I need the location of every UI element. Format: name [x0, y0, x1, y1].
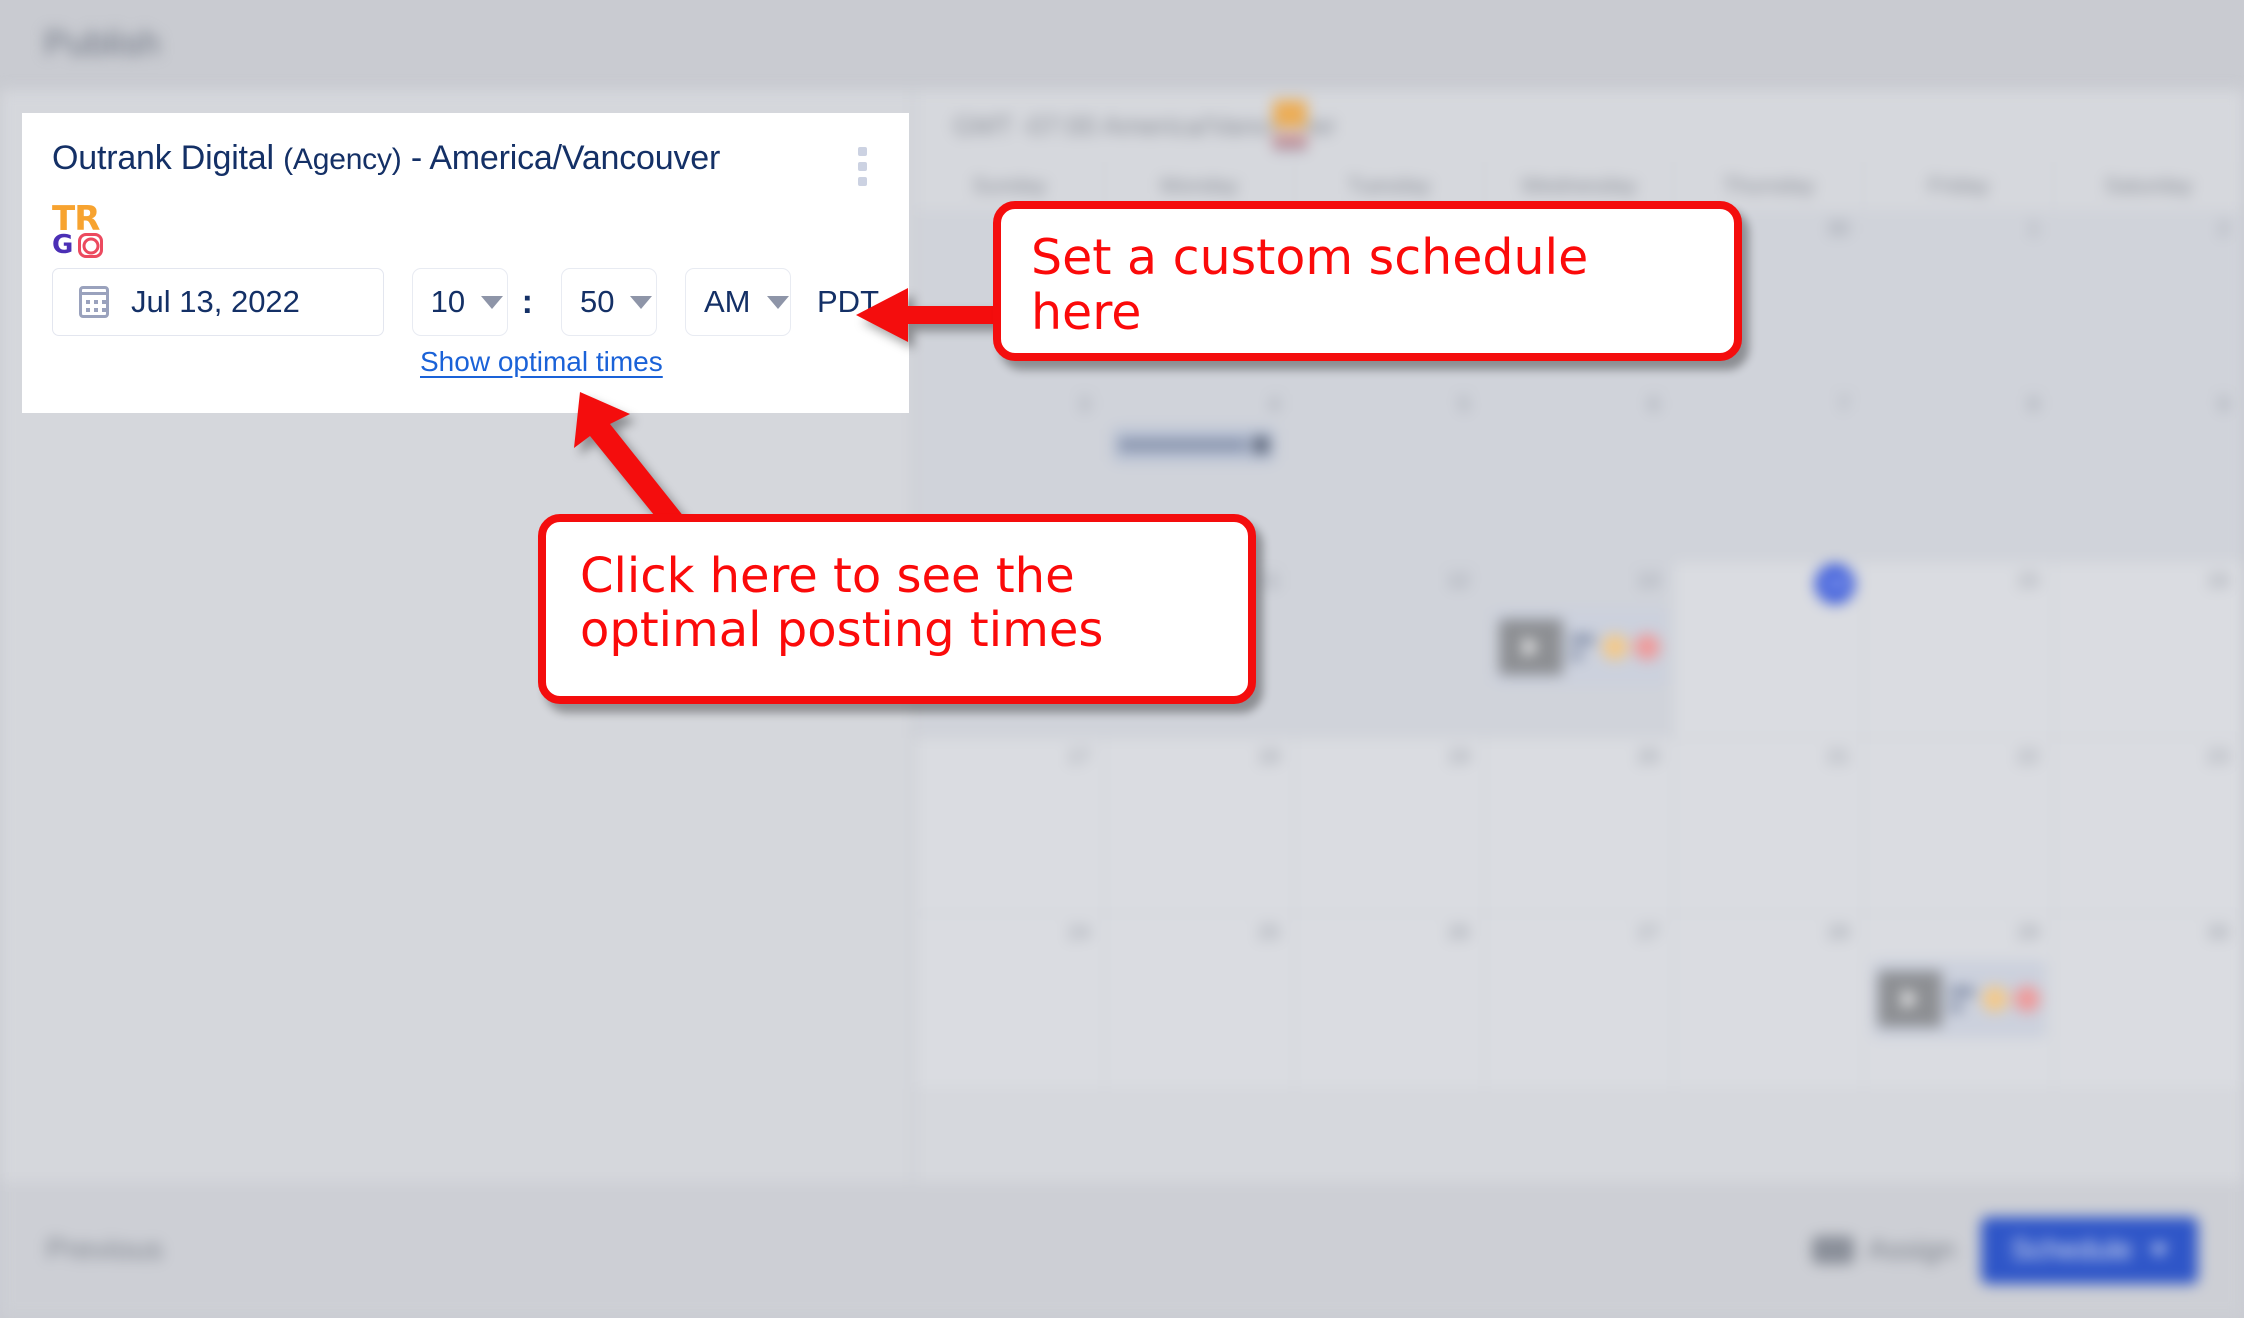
- hour-select[interactable]: 10: [412, 268, 508, 336]
- calendar-icon: [79, 286, 109, 318]
- schedule-button[interactable]: Schedule: [1981, 1217, 2198, 1284]
- calendar-day-number: 13: [1637, 570, 1659, 593]
- calendar-day-number: 29: [2017, 922, 2039, 945]
- calendar-day-cell[interactable]: 22: [1864, 738, 2054, 914]
- calendar-day-number: 26: [1447, 922, 1469, 945]
- calendar-day-cell[interactable]: 26: [1295, 914, 1485, 1090]
- calendar-day-number: 27: [1637, 922, 1659, 945]
- meridiem-value: AM: [704, 284, 751, 320]
- calendar-day-number: 3: [1079, 394, 1090, 417]
- video-thumbnail-icon: [1499, 619, 1563, 675]
- video-thumbnail-icon: [1878, 971, 1942, 1027]
- assign-label: Assign: [1868, 1234, 1955, 1267]
- calendar-day-number: 6: [1648, 394, 1659, 417]
- instagram-icon: [78, 233, 103, 258]
- callout-custom-schedule: Set a custom schedule here: [993, 201, 1742, 361]
- calendar-day-cell[interactable]: 7: [1674, 386, 1864, 562]
- assign-button[interactable]: Assign: [1812, 1234, 1955, 1267]
- calendar-day-number: 22: [2017, 746, 2039, 769]
- minute-select[interactable]: 50: [561, 268, 657, 336]
- meridiem-select[interactable]: AM: [685, 268, 791, 336]
- calendar-day-cell[interactable]: 30: [2054, 914, 2244, 1090]
- calendar-day-cell[interactable]: 24: [915, 914, 1105, 1090]
- calendar-day-cell[interactable]: 14: [1674, 562, 1864, 738]
- calendar-day-header: Saturday: [2054, 162, 2244, 210]
- account-type: (Agency): [283, 143, 401, 176]
- calendar-event-bar[interactable]: [1113, 428, 1275, 462]
- calendar-day-number: 11: [1259, 570, 1280, 593]
- calendar-day-number: 12: [1447, 570, 1469, 593]
- calendar-day-number: 15: [2017, 570, 2039, 593]
- kebab-dot: [858, 162, 867, 171]
- hour-value: 10: [431, 284, 465, 320]
- calendar-day-number: 2: [2218, 218, 2229, 241]
- calendar-toolbar: GMT -07:00 America/Vancouver: [915, 90, 2244, 162]
- minute-value: 50: [580, 284, 614, 320]
- calendar-event-card[interactable]: [1493, 608, 1667, 686]
- calendar-day-cell[interactable]: 23: [2054, 738, 2244, 914]
- event-title-placeholder: [1950, 987, 1974, 996]
- event-meta: [1950, 987, 1974, 1012]
- calendar-day-cell[interactable]: 16: [2054, 562, 2244, 738]
- calendar-day-cell[interactable]: 28: [1674, 914, 1864, 1090]
- calendar-day-cell[interactable]: 20: [1485, 738, 1675, 914]
- kebab-dot: [858, 147, 867, 156]
- show-optimal-times-link[interactable]: Show optimal times: [420, 346, 663, 377]
- chevron-down-icon: [767, 296, 789, 309]
- calendar-day-number: 20: [1637, 746, 1659, 769]
- calendar-event-card[interactable]: [1872, 960, 2046, 1038]
- calendar-day-number: 19: [1447, 746, 1469, 769]
- calendar-day-number: 4: [1269, 394, 1280, 417]
- connected-account-icons: TR G: [52, 202, 122, 260]
- calendar-day-number: 8: [2028, 394, 2039, 417]
- kebab-menu-icon[interactable]: [845, 139, 879, 186]
- calendar-day-cell[interactable]: 9: [2054, 386, 2244, 562]
- kebab-dot: [858, 177, 867, 186]
- callout-optimal-times: Click here to see the optimal posting ti…: [538, 514, 1256, 704]
- brand-logo-icon: [1273, 100, 1307, 152]
- time-colon-separator: :: [522, 283, 533, 322]
- calendar-day-cell[interactable]: 18: [1105, 738, 1295, 914]
- calendar-day-number: 7: [1838, 394, 1849, 417]
- event-network-icons: [1602, 634, 1660, 660]
- calendar-day-cell[interactable]: 5: [1295, 386, 1485, 562]
- date-value: Jul 13, 2022: [131, 284, 300, 320]
- calendar-day-header: Friday: [1864, 162, 2054, 210]
- event-title-placeholder: [1119, 440, 1247, 450]
- network-icon: [1634, 634, 1660, 660]
- calendar-day-cell[interactable]: 2: [2054, 210, 2244, 386]
- calendar-day-number: 18: [1257, 746, 1279, 769]
- calendar-day-number: 23: [2207, 746, 2229, 769]
- date-input[interactable]: Jul 13, 2022: [52, 268, 384, 336]
- annotation-arrow-to-time-controls: [856, 280, 1016, 350]
- account-timezone: - America/Vancouver: [411, 139, 720, 177]
- schedule-card-title: Outrank Digital (Agency) - America/Vanco…: [52, 139, 720, 178]
- calendar-day-number: 1: [2028, 218, 2039, 241]
- calendar-day-cell[interactable]: 15: [1864, 562, 2054, 738]
- calendar-day-number: 24: [1068, 922, 1090, 945]
- calendar-day-cell[interactable]: 19: [1295, 738, 1485, 914]
- footer-actions: Assign Schedule: [1812, 1217, 2198, 1284]
- event-meta: [1571, 635, 1595, 660]
- schedule-card-header: Outrank Digital (Agency) - America/Vanco…: [52, 139, 879, 186]
- network-icon: [2014, 986, 2040, 1012]
- optimal-times-row: Show optimal times: [52, 346, 879, 378]
- google-business-icon: G: [52, 232, 73, 258]
- calendar-day-cell[interactable]: 17: [915, 738, 1105, 914]
- screen-root: Publish GMT -07:00 America/Vancouver Sun…: [0, 0, 2244, 1318]
- calendar-day-cell[interactable]: 6: [1485, 386, 1675, 562]
- calendar-day-cell[interactable]: 8: [1864, 386, 2054, 562]
- calendar-day-number: 17: [1068, 746, 1090, 769]
- calendar-day-number: 5: [1458, 394, 1469, 417]
- chevron-down-icon: [481, 296, 503, 309]
- schedule-label: Schedule: [2011, 1234, 2132, 1267]
- calendar-day-number: 21: [1827, 746, 1849, 769]
- event-time-placeholder: [1571, 651, 1582, 660]
- calendar-day-cell[interactable]: 29: [1864, 914, 2054, 1090]
- calendar-day-cell[interactable]: 1: [1864, 210, 2054, 386]
- footer-bar: Previous Assign Schedule: [0, 1182, 2244, 1318]
- calendar-day-number: 28: [1827, 922, 1849, 945]
- event-network-icons: [1982, 986, 2040, 1012]
- calendar-day-cell[interactable]: 21: [1674, 738, 1864, 914]
- calendar-day-cell[interactable]: 27: [1485, 914, 1675, 1090]
- chevron-down-icon: [2150, 1245, 2168, 1256]
- network-icon: [1982, 986, 2008, 1012]
- calendar-day-number: 30: [2207, 922, 2229, 945]
- calendar-day-number: 16: [2207, 570, 2229, 593]
- event-time-placeholder: [1950, 1003, 1961, 1012]
- event-title-placeholder: [1571, 635, 1595, 644]
- event-network-icon: [1253, 437, 1269, 453]
- schedule-controls-row: Jul 13, 2022 10 : 50 AM PDT: [52, 268, 879, 336]
- page-title: Publish: [44, 24, 160, 64]
- today-indicator: 14: [1815, 564, 1855, 604]
- network-icon: [1602, 634, 1628, 660]
- chevron-down-icon: [630, 296, 652, 309]
- previous-button[interactable]: Previous: [46, 1233, 163, 1267]
- schedule-card: Outrank Digital (Agency) - America/Vanco…: [22, 113, 909, 413]
- calendar-day-number: 30: [1827, 218, 1849, 241]
- calendar-day-cell[interactable]: 13: [1485, 562, 1675, 738]
- account-name: Outrank Digital: [52, 139, 274, 177]
- calendar-day-cell[interactable]: 25: [1105, 914, 1295, 1090]
- calendar-day-cell[interactable]: 12: [1295, 562, 1485, 738]
- calendar-day-number: 9: [2218, 394, 2229, 417]
- people-icon: [1812, 1236, 1854, 1264]
- calendar-day-number: 25: [1257, 922, 1279, 945]
